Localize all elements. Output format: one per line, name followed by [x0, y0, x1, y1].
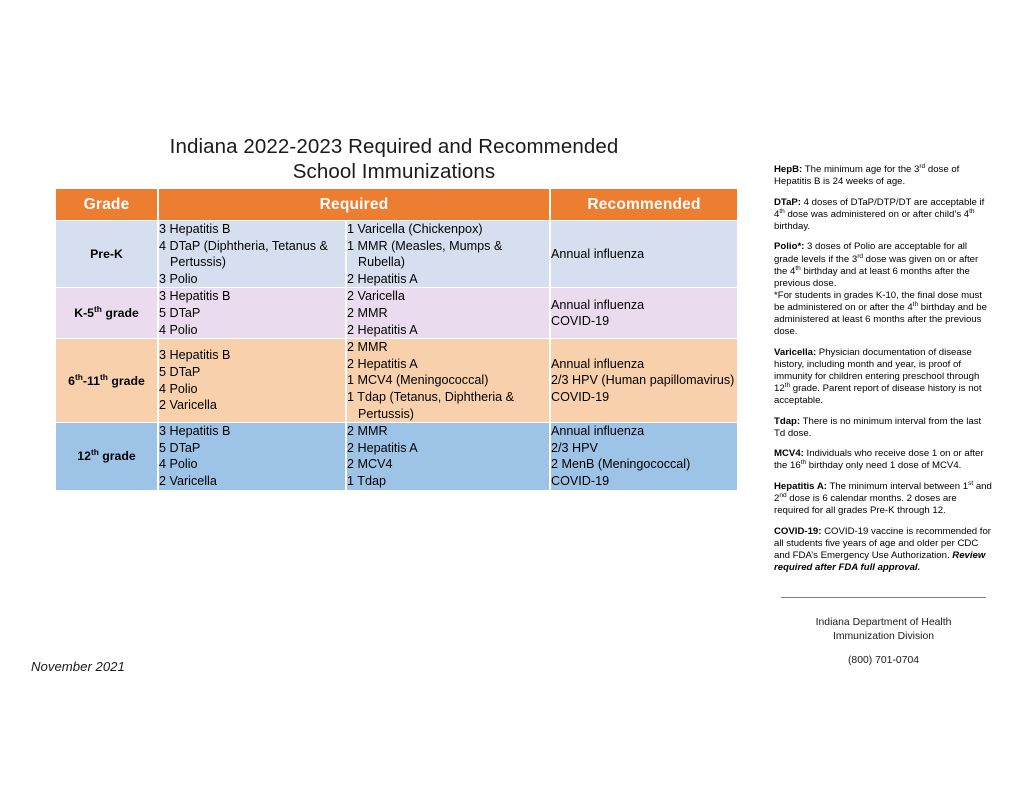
footnote: DTaP: 4 doses of DTaP/DTP/DT are accepta… — [774, 197, 993, 233]
footnote-label: Polio*: — [774, 241, 804, 252]
footnote: COVID-19: COVID-19 vaccine is recommende… — [774, 526, 993, 574]
footnote-label: Tdap: — [774, 416, 800, 427]
recommended-list: Annual influenza2/3 HPV (Human papilloma… — [551, 339, 737, 422]
footnotes-panel: HepB: The minimum age for the 3rd dose o… — [774, 164, 993, 574]
vaccine-item: 3 Hepatitis B — [159, 347, 345, 364]
vaccine-item: 3 Hepatitis B — [159, 221, 345, 238]
recommended-item: Annual influenza — [551, 246, 737, 263]
footnote: Tdap: There is no minimum interval from … — [774, 416, 993, 440]
vaccine-item: 2 MMR — [347, 423, 549, 440]
vaccine-item: 5 DTaP — [159, 364, 345, 381]
footnote: Hepatitis A: The minimum interval betwee… — [774, 481, 993, 517]
column-header-required: Required — [159, 189, 549, 220]
vaccine-item: 4 Polio — [159, 322, 345, 339]
vaccine-item: 1 Tdap — [347, 473, 549, 490]
footer-phone-number: (800) 701-0704 — [774, 655, 993, 666]
vaccine-item: 2 Hepatitis A — [347, 322, 549, 339]
required-list-primary: 3 Hepatitis B5 DTaP4 Polio2 Varicella — [159, 423, 345, 489]
recommended-item: COVID-19 — [551, 389, 737, 406]
required-list-secondary: 2 MMR2 Hepatitis A2 MCV41 Tdap — [347, 423, 549, 489]
column-header-recommended: Recommended — [551, 189, 737, 220]
required-list-secondary: 2 Varicella2 MMR2 Hepatitis A — [347, 288, 549, 338]
vaccine-item: 2 Hepatitis A — [347, 440, 549, 457]
recommended-item: Annual influenza — [551, 297, 737, 314]
vaccine-item: 3 Hepatitis B — [159, 288, 345, 305]
vaccine-item: 1 Tdap (Tetanus, Diphtheria & Pertussis) — [347, 389, 549, 422]
vaccine-item: 5 DTaP — [159, 305, 345, 322]
table-body: Pre-K3 Hepatitis B4 DTaP (Diphtheria, Te… — [56, 221, 737, 490]
required-list-primary: 3 Hepatitis B5 DTaP4 Polio2 Varicella — [159, 339, 345, 422]
table-row: 12th grade3 Hepatitis B5 DTaP4 Polio2 Va… — [56, 423, 737, 489]
recommended-item: COVID-19 — [551, 313, 737, 330]
vaccine-item: 1 Varicella (Chickenpox) — [347, 221, 549, 238]
title-line-1: Indiana 2022-2023 Required and Recommend… — [54, 134, 734, 159]
recommended-list: Annual influenza — [551, 221, 737, 287]
column-header-grade: Grade — [56, 189, 157, 220]
recommended-list: Annual influenza2/3 HPV2 MenB (Meningoco… — [551, 423, 737, 489]
footnote: MCV4: Individuals who receive dose 1 on … — [774, 448, 993, 472]
table-row: Pre-K3 Hepatitis B4 DTaP (Diphtheria, Te… — [56, 221, 737, 287]
title-line-2: School Immunizations — [54, 159, 734, 184]
recommended-item: 2/3 HPV (Human papillomavirus) — [551, 372, 737, 389]
recommended-item: Annual influenza — [551, 423, 737, 440]
table-header-row: Grade Required Recommended — [56, 189, 737, 220]
vaccine-item: 4 Polio — [159, 456, 345, 473]
footnote: HepB: The minimum age for the 3rd dose o… — [774, 164, 993, 188]
required-list-primary: 3 Hepatitis B4 DTaP (Diphtheria, Tetanus… — [159, 221, 345, 287]
vaccine-item: 2 Hepatitis A — [347, 356, 549, 373]
table-row: 6th-11th grade3 Hepatitis B5 DTaP4 Polio… — [56, 339, 737, 422]
recommended-item: 2 MenB (Meningococcal) — [551, 456, 737, 473]
revision-date: November 2021 — [31, 659, 125, 674]
vaccine-item: 2 Varicella — [347, 288, 549, 305]
vaccine-item: 2 Varicella — [159, 397, 345, 414]
immunization-schedule-table: Grade Required Recommended Pre-K3 Hepati… — [54, 188, 739, 491]
required-list-secondary: 1 Varicella (Chickenpox)1 MMR (Measles, … — [347, 221, 549, 287]
grade-label: 6th-11th grade — [56, 339, 157, 422]
recommended-item: Annual influenza — [551, 356, 737, 373]
footnote-label: MCV4: — [774, 448, 804, 459]
footer-org-line-2: Immunization Division — [774, 630, 993, 644]
footer-org-line-1: Indiana Department of Health — [774, 616, 993, 630]
grade-label: 12th grade — [56, 423, 157, 489]
required-list-primary: 3 Hepatitis B5 DTaP4 Polio — [159, 288, 345, 338]
footnote-label: COVID-19: — [774, 526, 821, 537]
grade-label: K-5th grade — [56, 288, 157, 338]
recommended-item: COVID-19 — [551, 473, 737, 490]
footer-divider — [781, 597, 986, 598]
grade-label: Pre-K — [56, 221, 157, 287]
vaccine-item: 2 MCV4 — [347, 456, 549, 473]
footnote-label: Varicella: — [774, 347, 816, 358]
footnote-label: HepB: — [774, 164, 802, 175]
footnote: Polio*: 3 doses of Polio are acceptable … — [774, 241, 993, 338]
vaccine-item: 3 Hepatitis B — [159, 423, 345, 440]
footer-organization: Indiana Department of Health Immunizatio… — [774, 616, 993, 644]
footnote-label: Hepatitis A: — [774, 481, 827, 492]
page-title: Indiana 2022-2023 Required and Recommend… — [54, 134, 734, 184]
footnote: Varicella: Physician documentation of di… — [774, 347, 993, 407]
vaccine-item: 2 Hepatitis A — [347, 271, 549, 288]
vaccine-item: 3 Polio — [159, 271, 345, 288]
table-row: K-5th grade3 Hepatitis B5 DTaP4 Polio2 V… — [56, 288, 737, 338]
vaccine-item: 1 MCV4 (Meningococcal) — [347, 372, 549, 389]
vaccine-item: 2 MMR — [347, 305, 549, 322]
recommended-list: Annual influenzaCOVID-19 — [551, 288, 737, 338]
vaccine-item: 4 Polio — [159, 381, 345, 398]
vaccine-item: 5 DTaP — [159, 440, 345, 457]
vaccine-item: 1 MMR (Measles, Mumps & Rubella) — [347, 238, 549, 271]
vaccine-item: 2 MMR — [347, 339, 549, 356]
vaccine-item: 4 DTaP (Diphtheria, Tetanus & Pertussis) — [159, 238, 345, 271]
vaccine-item: 2 Varicella — [159, 473, 345, 490]
recommended-item: 2/3 HPV — [551, 440, 737, 457]
footnote-label: DTaP: — [774, 197, 801, 208]
required-list-secondary: 2 MMR2 Hepatitis A1 MCV4 (Meningococcal)… — [347, 339, 549, 422]
